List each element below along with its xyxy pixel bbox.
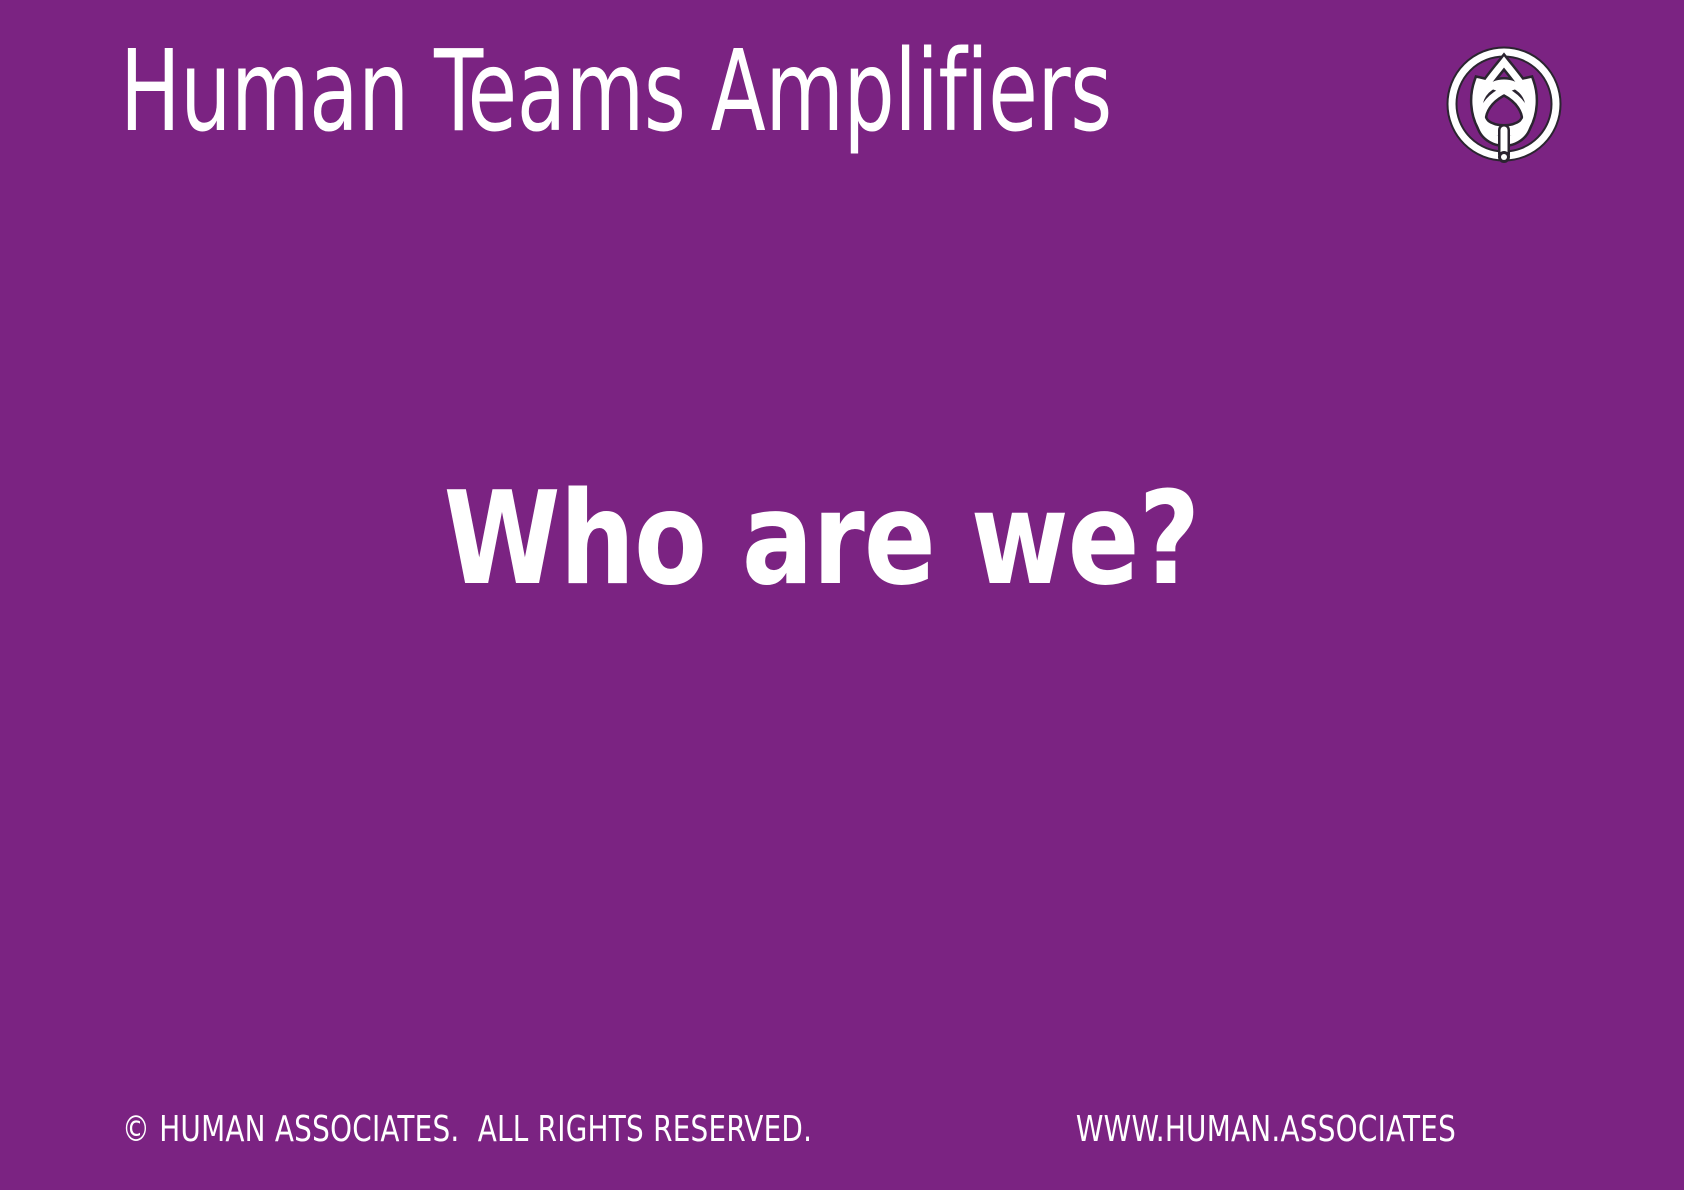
slide-footer: © HUMAN ASSOCIATES. ALL RIGHTS RESERVED.…: [0, 1102, 1684, 1148]
celtic-triquetra-logo-icon: [1444, 38, 1564, 166]
slide-headline: Who are we?: [444, 476, 1200, 604]
website-url: WWW.HUMAN.ASSOCIATES: [1076, 1112, 1456, 1148]
page-title: Human Teams Amplifiers: [120, 36, 1080, 148]
copyright-notice: © HUMAN ASSOCIATES. ALL RIGHTS RESERVED.: [122, 1112, 812, 1148]
celtic-triquetra-icon: [1444, 38, 1564, 166]
headline-container: Who are we?: [0, 470, 1684, 610]
slide-canvas: Human Teams Amplifiers: [0, 0, 1684, 1190]
